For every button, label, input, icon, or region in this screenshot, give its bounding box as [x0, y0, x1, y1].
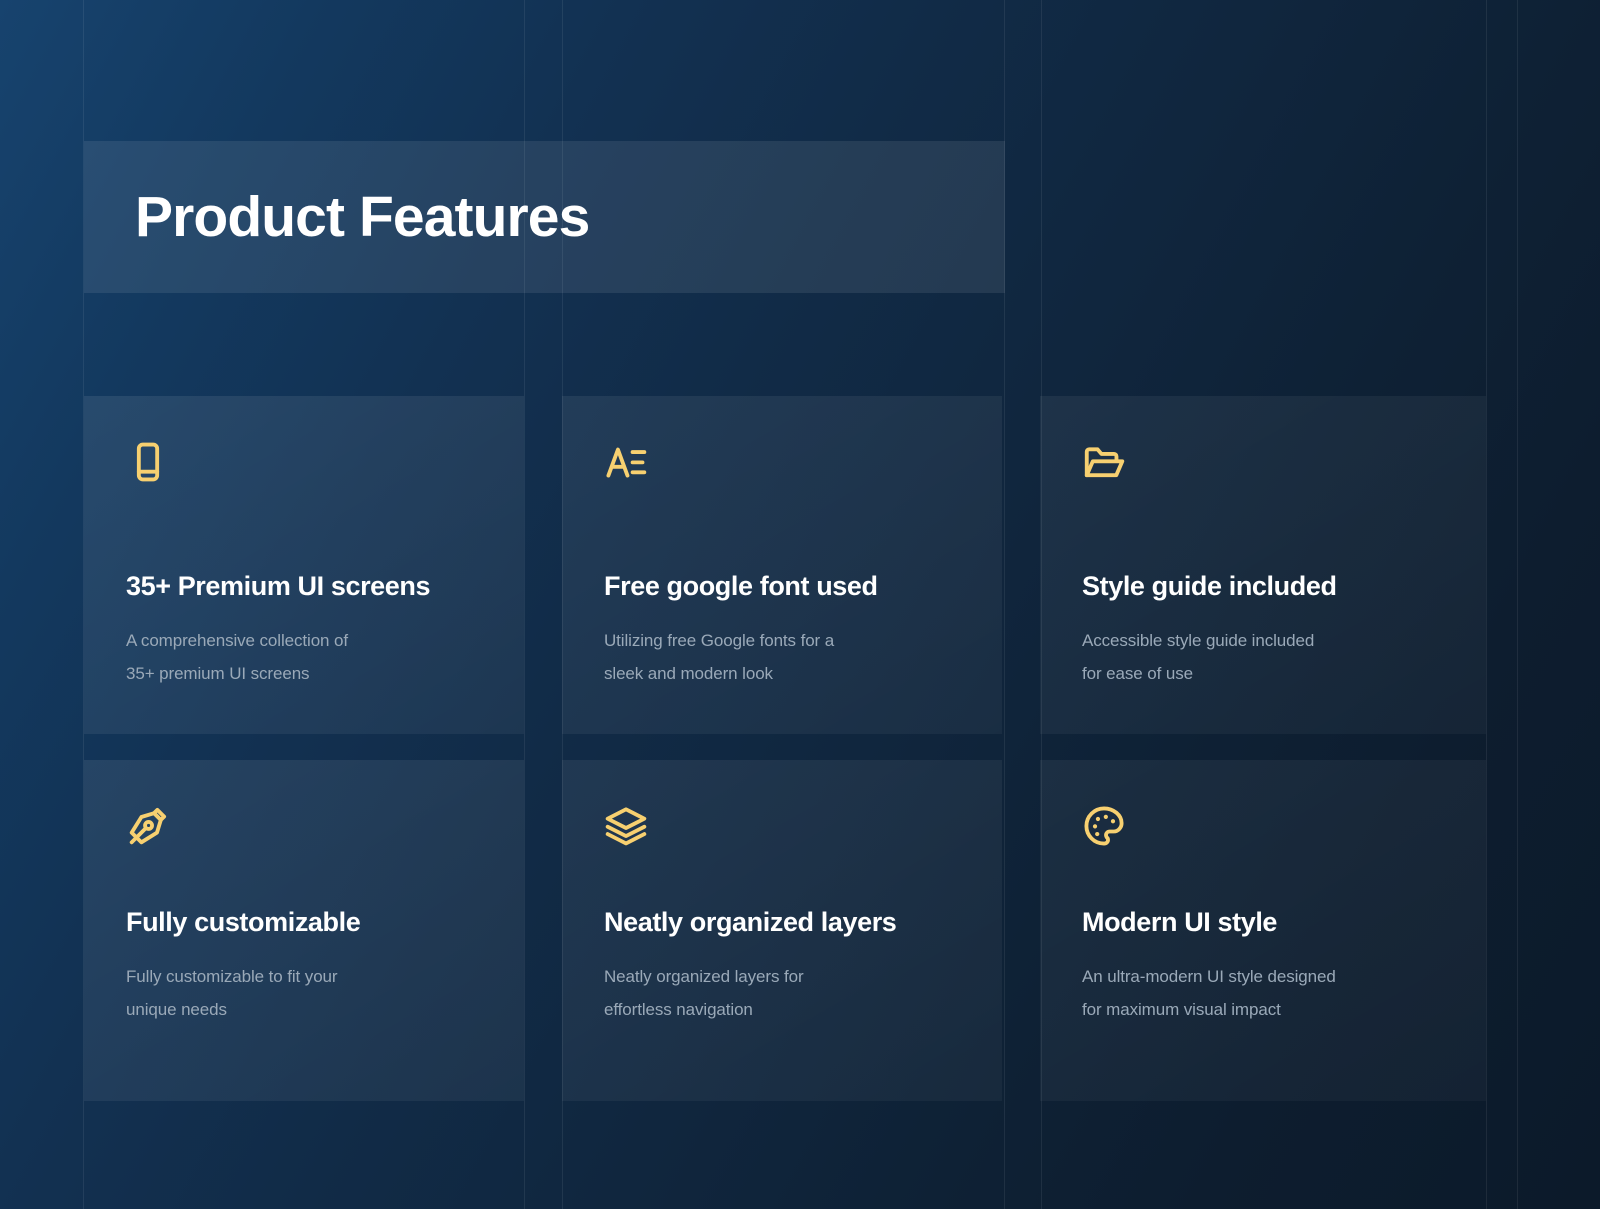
- mobile-screen-icon: [126, 440, 170, 484]
- feature-description-line: Neatly organized layers for: [604, 960, 804, 993]
- layers-icon: [604, 804, 648, 848]
- feature-card[interactable]: Style guide included Accessible style gu…: [1040, 396, 1486, 734]
- feature-description: Fully customizable to fit your unique ne…: [126, 960, 337, 1026]
- feature-card[interactable]: 35+ Premium UI screens A comprehensive c…: [84, 396, 524, 734]
- typography-icon: [604, 440, 648, 484]
- feature-description-line: for maximum visual impact: [1082, 993, 1336, 1026]
- feature-title: Free google font used: [604, 571, 878, 602]
- feature-description-line: Utilizing free Google fonts for a: [604, 624, 834, 657]
- feature-card[interactable]: Fully customizable Fully customizable to…: [84, 760, 524, 1101]
- pen-nib-icon: [126, 804, 170, 848]
- features-section: Product Features 35+ Premium UI screens …: [0, 0, 1600, 1209]
- feature-description: A comprehensive collection of 35+ premiu…: [126, 624, 348, 690]
- feature-description-line: A comprehensive collection of: [126, 624, 348, 657]
- features-grid: 35+ Premium UI screens A comprehensive c…: [84, 396, 1487, 1101]
- grid-guide-line: [1517, 0, 1518, 1209]
- feature-description-line: An ultra-modern UI style designed: [1082, 960, 1336, 993]
- feature-description: Neatly organized layers for effortless n…: [604, 960, 804, 1026]
- feature-description-line: unique needs: [126, 993, 337, 1026]
- feature-title: Style guide included: [1082, 571, 1337, 602]
- feature-card[interactable]: Neatly organized layers Neatly organized…: [562, 760, 1002, 1101]
- feature-title: Neatly organized layers: [604, 907, 896, 938]
- feature-title: 35+ Premium UI screens: [126, 571, 430, 602]
- page-title: Product Features: [135, 189, 589, 246]
- palette-icon: [1082, 804, 1126, 848]
- feature-description-line: Fully customizable to fit your: [126, 960, 337, 993]
- feature-description-line: sleek and modern look: [604, 657, 834, 690]
- feature-description-line: for ease of use: [1082, 657, 1314, 690]
- section-header-banner: Product Features: [84, 141, 1005, 293]
- feature-description: Utilizing free Google fonts for a sleek …: [604, 624, 834, 690]
- feature-description-line: Accessible style guide included: [1082, 624, 1314, 657]
- feature-card[interactable]: Modern UI style An ultra-modern UI style…: [1040, 760, 1486, 1101]
- feature-description: An ultra-modern UI style designed for ma…: [1082, 960, 1336, 1026]
- feature-description-line: effortless navigation: [604, 993, 804, 1026]
- feature-title: Fully customizable: [126, 907, 360, 938]
- feature-description: Accessible style guide included for ease…: [1082, 624, 1314, 690]
- feature-card[interactable]: Free google font used Utilizing free Goo…: [562, 396, 1002, 734]
- feature-description-line: 35+ premium UI screens: [126, 657, 348, 690]
- open-folder-icon: [1082, 440, 1126, 484]
- feature-title: Modern UI style: [1082, 907, 1277, 938]
